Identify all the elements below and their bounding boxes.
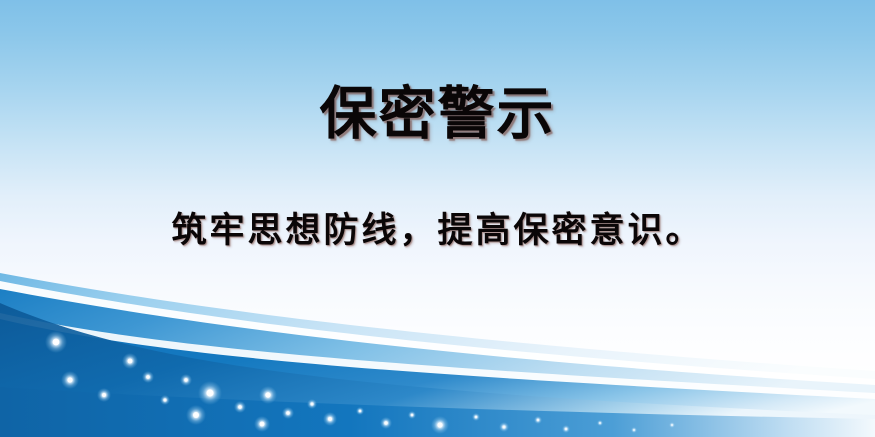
confidentiality-warning-banner: 保密警示 筑牢思想防线，提高保密意识。 bbox=[0, 0, 875, 437]
banner-subtitle: 筑牢思想防线，提高保密意识。 bbox=[0, 209, 875, 253]
banner-text: 保密警示 筑牢思想防线，提高保密意识。 bbox=[0, 0, 875, 437]
banner-title: 保密警示 bbox=[0, 82, 875, 146]
